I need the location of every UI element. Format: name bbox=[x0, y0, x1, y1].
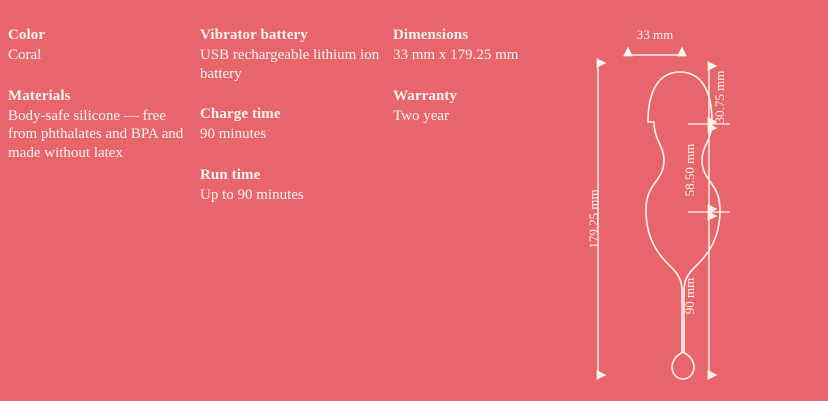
dimension-label-upper-bulb: 30.75 mm bbox=[712, 71, 727, 124]
dimension-label-width: 33 mm bbox=[637, 27, 673, 42]
spec-desc-vibrator-battery: USB rechargeable lithium ion battery bbox=[200, 46, 385, 83]
product-dimension-drawing: 33 mm 179.25 mm 30.75 mm 58.50 mm bbox=[578, 0, 828, 401]
spec-term-materials: Materials bbox=[8, 87, 188, 106]
dimension-label-lower-bulb: 58.50 mm bbox=[682, 144, 697, 197]
spec-column-3: Dimensions 33 mm x 179.25 mm Warranty Tw… bbox=[393, 26, 578, 125]
spec-desc-run-time: Up to 90 minutes bbox=[200, 186, 385, 205]
spec-desc-dimensions: 33 mm x 179.25 mm bbox=[393, 46, 578, 65]
spec-block-dimensions: Dimensions 33 mm x 179.25 mm bbox=[393, 26, 578, 65]
spec-block-run-time: Run time Up to 90 minutes bbox=[200, 166, 385, 205]
dimension-label-total-length: 179.25 mm bbox=[586, 189, 601, 248]
dimension-upper-bulb-30mm: 30.75 mm bbox=[709, 66, 727, 123]
spec-term-warranty: Warranty bbox=[393, 87, 578, 106]
spec-desc-warranty: Two year bbox=[393, 107, 578, 126]
spec-desc-materials: Body-safe silicone — free from phthalate… bbox=[8, 107, 188, 163]
spec-desc-charge-time: 90 minutes bbox=[200, 125, 385, 144]
dimension-width-33mm: 33 mm bbox=[628, 27, 682, 55]
spec-column-1: Color Coral Materials Body-safe silicone… bbox=[8, 26, 188, 162]
spec-block-color: Color Coral bbox=[8, 26, 188, 65]
spec-block-materials: Materials Body-safe silicone — free from… bbox=[8, 87, 188, 163]
spec-column-2: Vibrator battery USB rechargeable lithiu… bbox=[200, 26, 385, 204]
dimension-lower-bulb-58mm: 58.50 mm bbox=[682, 128, 709, 209]
dimension-stem-90mm: 90 mm bbox=[682, 216, 709, 375]
spec-term-charge-time: Charge time bbox=[200, 105, 385, 124]
spec-block-vibrator-battery: Vibrator battery USB rechargeable lithiu… bbox=[200, 26, 385, 83]
spec-term-vibrator-battery: Vibrator battery bbox=[200, 26, 385, 45]
dimension-total-length-179mm: 179.25 mm bbox=[586, 63, 601, 375]
spec-block-warranty: Warranty Two year bbox=[393, 87, 578, 126]
spec-term-run-time: Run time bbox=[200, 166, 385, 185]
dimension-label-stem: 90 mm bbox=[682, 278, 697, 314]
spec-sheet: Color Coral Materials Body-safe silicone… bbox=[0, 0, 828, 401]
spec-block-charge-time: Charge time 90 minutes bbox=[200, 105, 385, 144]
spec-term-color: Color bbox=[8, 26, 188, 45]
spec-desc-color: Coral bbox=[8, 46, 188, 65]
spec-term-dimensions: Dimensions bbox=[393, 26, 578, 45]
